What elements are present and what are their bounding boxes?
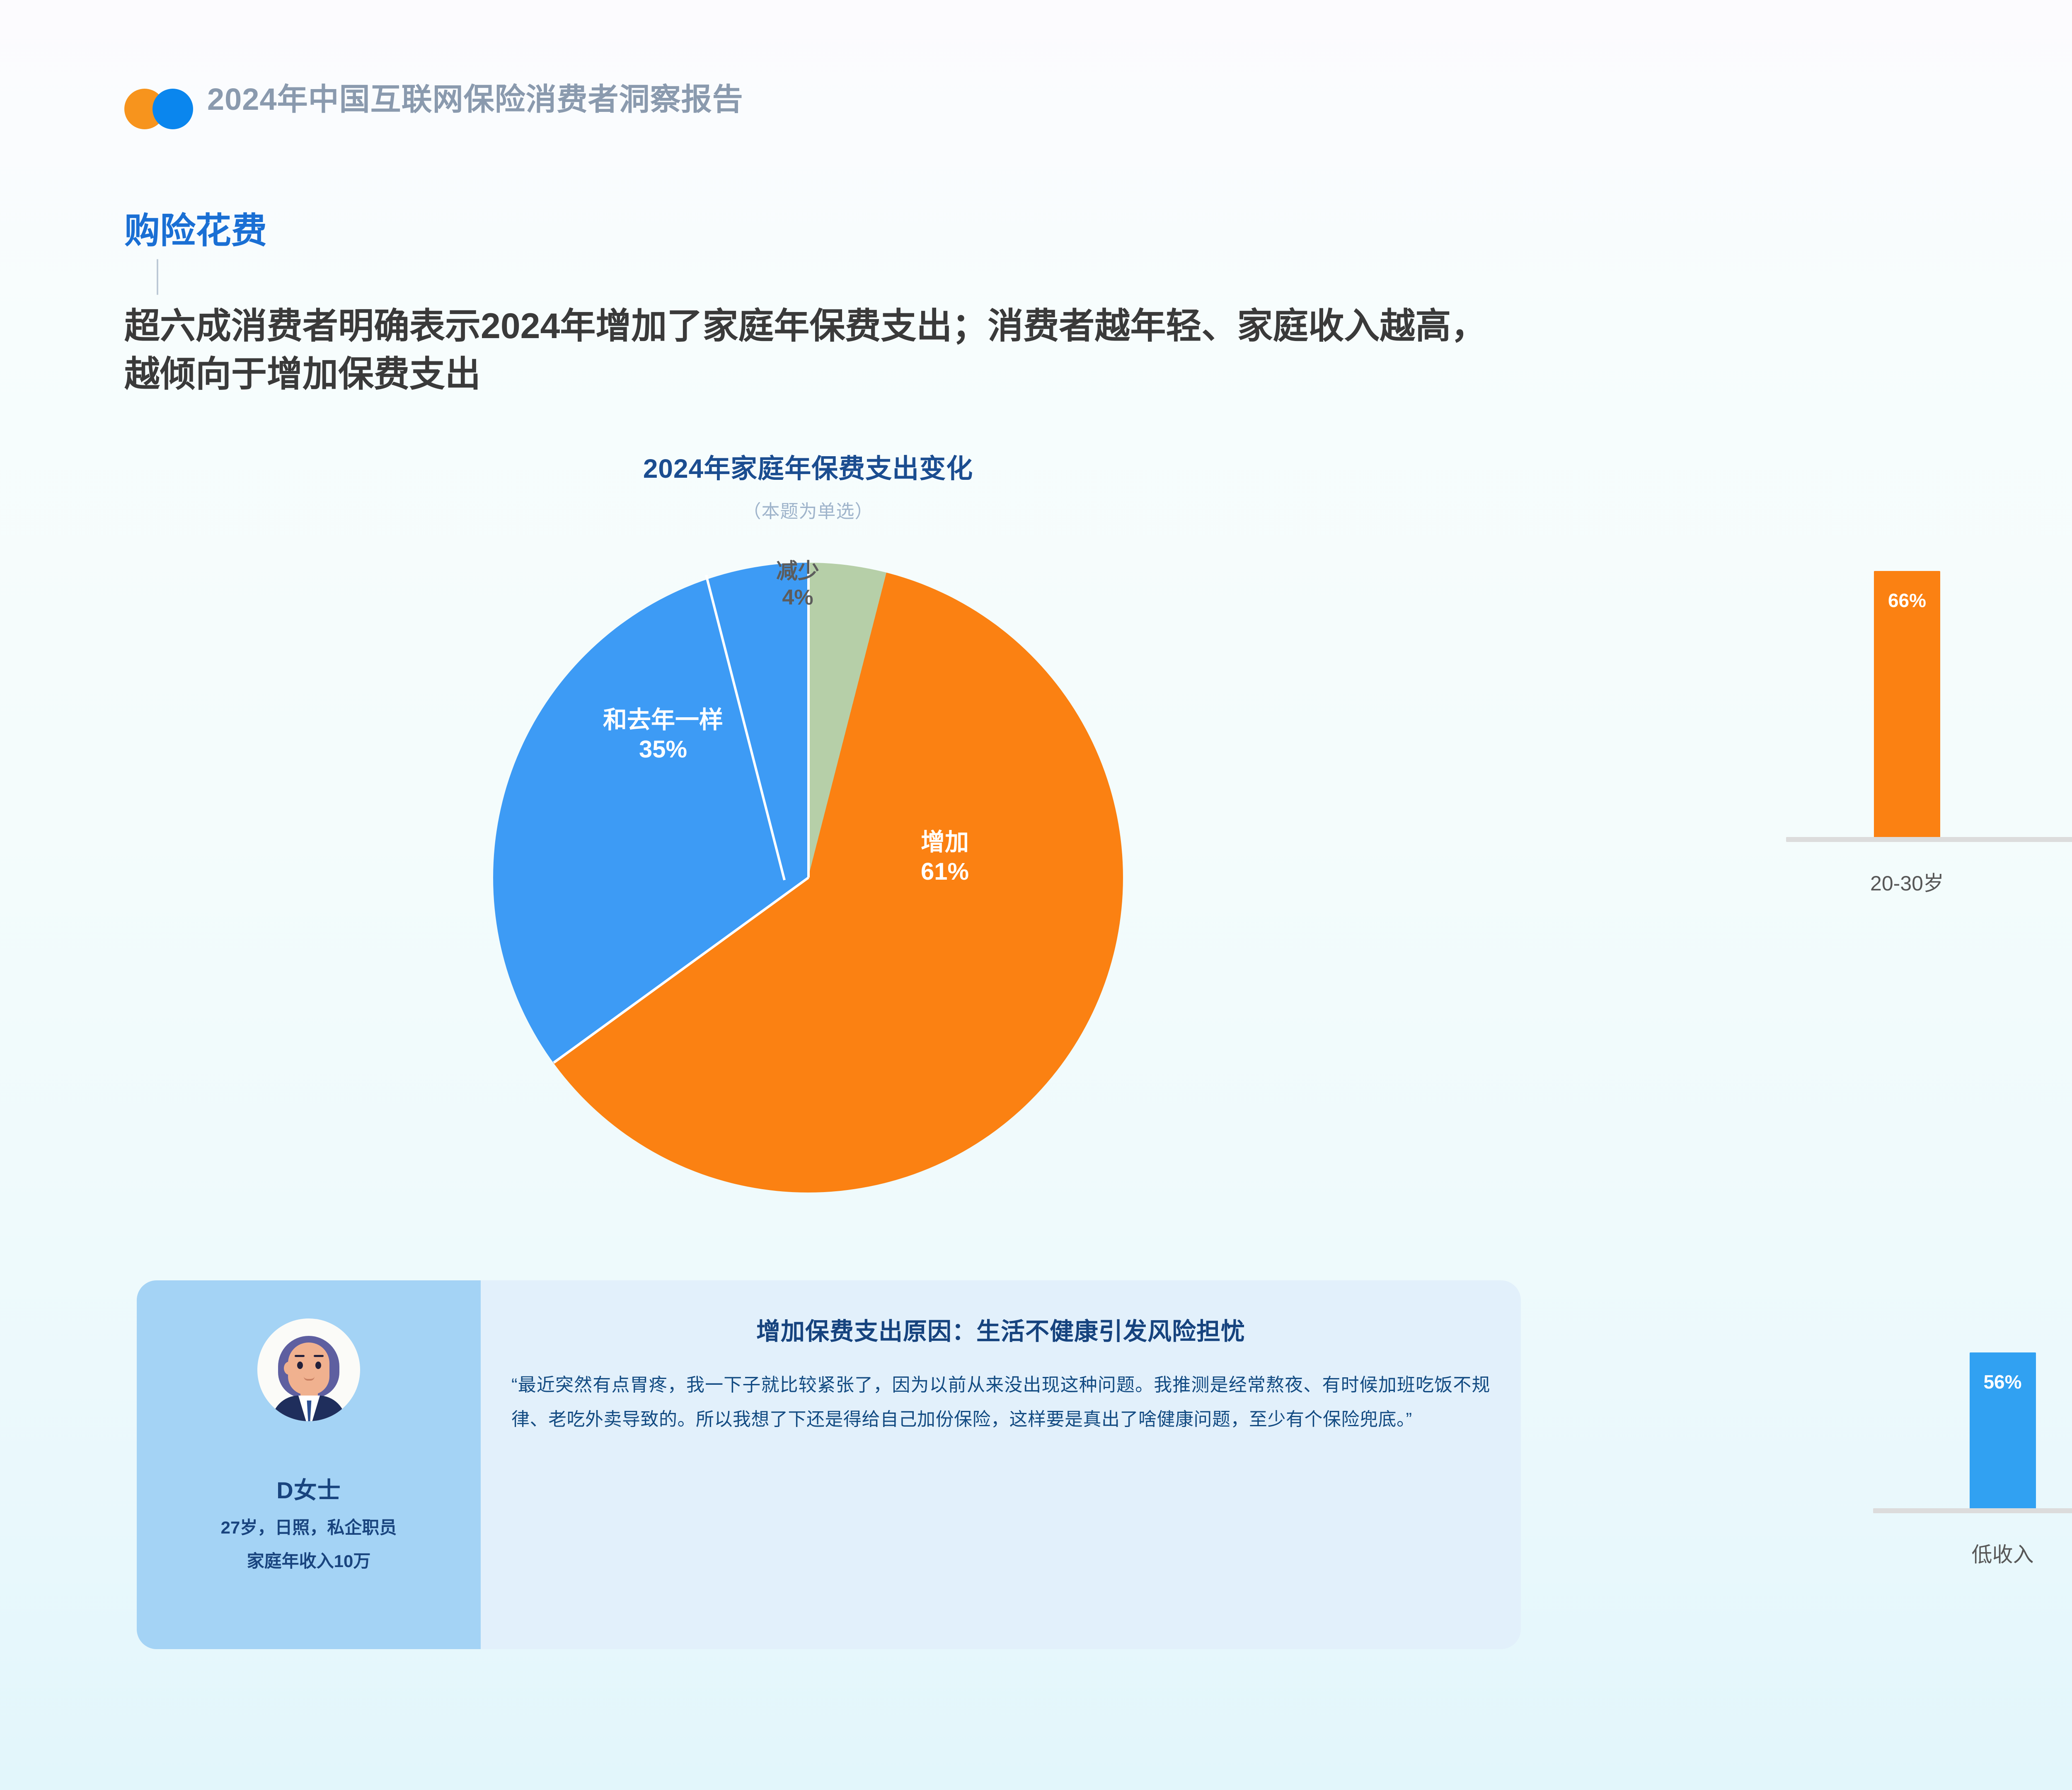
age-bar-col: 66% — [1786, 571, 2028, 837]
income-chart-title: 不同家庭收入“增加了”家庭年保费支出的人群占比 — [1687, 1214, 2072, 1252]
income-bar-col: 56% — [1873, 1352, 2072, 1508]
testimonial-title: 增加保费支出原因：生活不健康引发风险担忧 — [511, 1312, 1490, 1347]
pie-label-decrease-value: 4% — [736, 585, 860, 611]
income-chart-x-labels: 低收入 小康收入 中产收入 高收入 — [1873, 1538, 2072, 1568]
testimonial-income: 家庭年收入10万 — [247, 1547, 371, 1572]
headline-divider: ｜ — [124, 255, 191, 302]
pie-label-same-name: 和去年一样 — [555, 706, 771, 735]
headline-line-1-text: 超六成消费者明确表示2024年增加了家庭年保费支出；消费者越年轻、家庭收入越高， — [124, 306, 1486, 346]
report-title: 2024年中国互联网保险消费者洞察报告 — [207, 81, 743, 118]
income-bar-0[interactable]: 56% — [1970, 1352, 2036, 1508]
age-bar-chart-block: 不同年龄“增加了”家庭年保费支出的人群占比 （本题为多选） 66% 65% 57… — [1687, 447, 2072, 842]
age-bar-0-value: 66% — [1888, 589, 1926, 612]
age-chart-x-labels: 20-30岁 31-40岁 41-50岁 51-60岁 60岁以上 — [1786, 867, 2072, 897]
income-chart-axis — [1873, 1508, 2072, 1513]
age-bar-col: 65% — [2028, 575, 2072, 837]
pie-label-decrease: 减少 4% — [736, 559, 860, 611]
headline-line-2: 越倾向于增加保费支出 — [124, 351, 2072, 398]
age-bars: 66% 65% 57% 56% 53% — [1786, 547, 2072, 837]
two-circles-icon — [124, 82, 207, 136]
age-bar-0[interactable]: 66% — [1874, 571, 1940, 837]
income-bar-chart-block: 不同家庭收入“增加了”家庭年保费支出的人群占比 （本题为多选） 56% 58% … — [1687, 1214, 2072, 1513]
pie-label-same: 和去年一样 35% — [555, 706, 771, 764]
income-bar-0-value: 56% — [1983, 1371, 2021, 1393]
testimonial-card: D女士 27岁，日照，私企职员 家庭年收入10万 增加保费支出原因：生活不健康引… — [137, 1280, 1521, 1649]
pie-chart-block: 2024年家庭年保费支出变化 （本题为单选） 增加 61% 和去年一样 35% … — [108, 447, 1508, 1193]
pie-chart-subtitle: （本题为单选） — [108, 496, 1508, 523]
income-bar-chart: 56% 58% 60% 68% 低收入 小康收入 中产收入 高收入 — [1873, 1318, 2072, 1513]
age-chart-axis — [1786, 837, 2072, 842]
income-xlabel-0: 低收入 — [1873, 1538, 2072, 1568]
pie-label-increase-value: 61% — [858, 857, 1032, 887]
testimonial-profile: D女士 27岁，日照，私企职员 家庭年收入10万 — [137, 1280, 481, 1649]
age-bar-chart: 66% 65% 57% 56% 53% 20-30岁 31-40岁 41-50岁… — [1786, 552, 2072, 842]
pie-label-decrease-name: 减少 — [736, 559, 860, 585]
testimonial-meta: 27岁，日照，私企职员 — [221, 1514, 397, 1539]
pie-chart: 增加 61% 和去年一样 35% 减少 4% — [493, 563, 1123, 1193]
age-chart-title: 不同年龄“增加了”家庭年保费支出的人群占比 — [1687, 447, 2072, 486]
age-xlabel-1: 31-40岁 — [2028, 867, 2072, 897]
pie-chart-title: 2024年家庭年保费支出变化 — [108, 447, 1508, 486]
income-bars: 56% 58% 60% 68% — [1873, 1313, 2072, 1508]
female-avatar-icon — [257, 1318, 360, 1421]
income-chart-subtitle: （本题为多选） — [1687, 1263, 2072, 1289]
page-header: 2024年中国互联网保险消费者洞察报告 清华大学五道口金融学院 中国保险与养老金… — [0, 0, 2072, 178]
age-chart-subtitle: （本题为多选） — [1687, 496, 2072, 523]
pie-label-increase-name: 增加 — [858, 828, 1032, 857]
pie-label-same-value: 35% — [555, 735, 771, 764]
headline-keyword: 购险花费 — [124, 211, 267, 251]
circle-blue-icon — [152, 89, 193, 129]
testimonial-content: 增加保费支出原因：生活不健康引发风险担忧 “最近突然有点胃疼，我一下子就比较紧张… — [481, 1280, 1521, 1649]
age-xlabel-0: 20-30岁 — [1786, 867, 2028, 897]
testimonial-body: “最近突然有点胃疼，我一下子就比较紧张了，因为以前从来没出现这种问题。我推测是经… — [511, 1368, 1490, 1437]
page-title: 购险花费｜超六成消费者明确表示2024年增加了家庭年保费支出；消费者越年轻、家庭… — [124, 207, 2072, 398]
headline-line-1: 购险花费｜超六成消费者明确表示2024年增加了家庭年保费支出；消费者越年轻、家庭… — [124, 207, 2072, 351]
testimonial-name: D女士 — [276, 1472, 341, 1505]
pie-label-increase: 增加 61% — [858, 828, 1032, 887]
